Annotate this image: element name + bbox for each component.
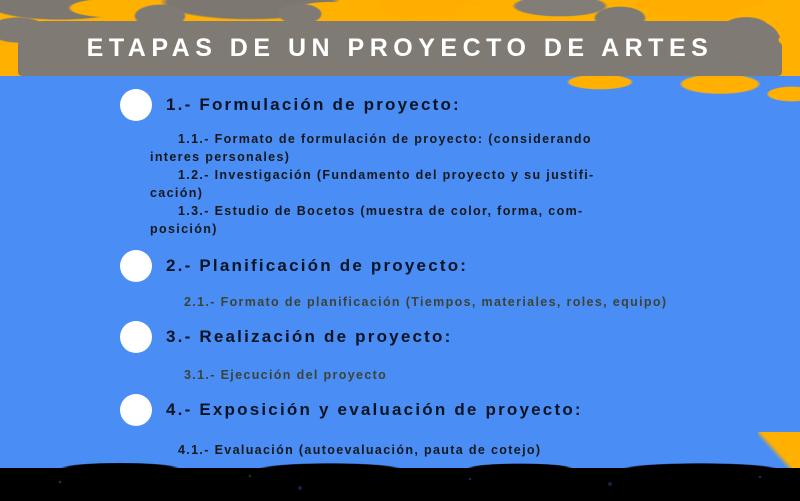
footer-black-band xyxy=(0,468,800,501)
section-2-title: 2.- Planificación de proyecto: xyxy=(166,256,468,276)
subitem-2-1: 2.1.- Formato de planificación (Tiempos,… xyxy=(150,293,760,311)
spacer-3 xyxy=(0,384,800,393)
sections-list: 1.- Formulación de proyecto: 1.1.- Forma… xyxy=(0,88,800,491)
subitem-1-1-line-2: interes personales) xyxy=(150,148,760,166)
white-circle-bullet-icon xyxy=(120,250,152,282)
title-plate: ETAPAS DE UN PROYECTO DE ARTES xyxy=(18,21,782,76)
subitem-3-1: 3.1.- Ejecución del proyecto xyxy=(150,366,760,384)
section-2-header: 2.- Planificación de proyecto: xyxy=(0,249,800,283)
spacer-1 xyxy=(0,238,800,249)
spacer-2 xyxy=(0,311,800,320)
section-2: 2.- Planificación de proyecto: 2.1.- For… xyxy=(0,249,800,311)
section-3-subitems: 3.1.- Ejecución del proyecto xyxy=(0,354,800,384)
section-4-header: 4.- Exposición y evaluación de proyecto: xyxy=(0,393,800,427)
section-2-subitems: 2.1.- Formato de planificación (Tiempos,… xyxy=(0,283,800,311)
slide-canvas: ETAPAS DE UN PROYECTO DE ARTES 1.- Formu… xyxy=(0,0,800,501)
white-circle-bullet-icon xyxy=(120,321,152,353)
section-1: 1.- Formulación de proyecto: 1.1.- Forma… xyxy=(0,88,800,238)
section-3-header: 3.- Realización de proyecto: xyxy=(0,320,800,354)
page-title: ETAPAS DE UN PROYECTO DE ARTES xyxy=(87,34,714,63)
section-4-title: 4.- Exposición y evaluación de proyecto: xyxy=(166,400,583,420)
subitem-1-3-line-1: 1.3.- Estudio de Bocetos (muestra de col… xyxy=(150,202,760,220)
subitem-1-1-line-1: 1.1.- Formato de formulación de proyecto… xyxy=(150,130,760,148)
section-3: 3.- Realización de proyecto: 3.1.- Ejecu… xyxy=(0,320,800,384)
section-1-title: 1.- Formulación de proyecto: xyxy=(166,95,461,115)
subitem-4-1: 4.1.- Evaluación (autoevaluación, pauta … xyxy=(150,441,760,459)
section-1-subitems: 1.1.- Formato de formulación de proyecto… xyxy=(0,130,800,238)
white-circle-bullet-icon xyxy=(120,394,152,426)
section-1-header: 1.- Formulación de proyecto: xyxy=(0,88,800,122)
subitem-1-2-line-2: cación) xyxy=(150,184,760,202)
subitem-1-2-line-1: 1.2.- Investigación (Fundamento del proy… xyxy=(150,166,760,184)
section-3-title: 3.- Realización de proyecto: xyxy=(166,327,452,347)
subitem-1-3-line-2: posición) xyxy=(150,220,760,238)
white-circle-bullet-icon xyxy=(120,89,152,121)
